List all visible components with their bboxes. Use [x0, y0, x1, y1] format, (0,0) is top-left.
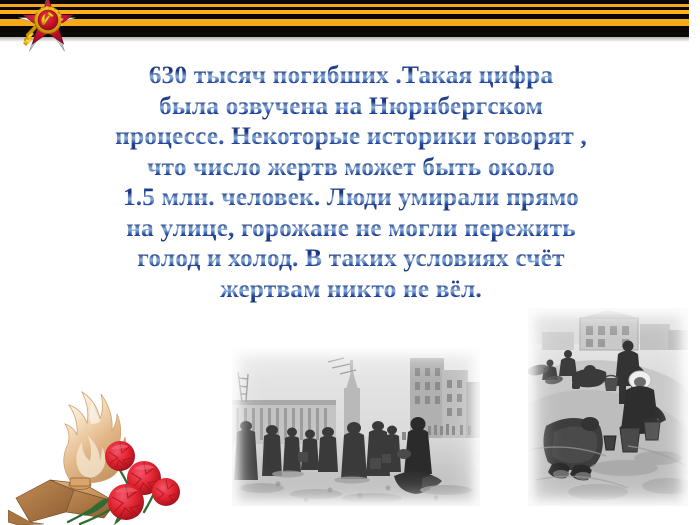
- text-line: голод и холод. В таких условиях счёт: [62, 243, 640, 274]
- carnation-flowers: [105, 441, 180, 520]
- text-line: 630 тысяч погибших .Такая цифра: [62, 60, 640, 91]
- slide-text-block: 630 тысяч погибших .Такая цифра была озв…: [62, 60, 640, 304]
- photo-leningrad-street-queue: [232, 348, 480, 506]
- ribbon-shadow: [0, 37, 689, 42]
- text-line: жертвам никто не вёл.: [62, 274, 640, 305]
- text-line: что число жертв может быть около: [62, 152, 640, 183]
- st-george-ribbon: [0, 0, 689, 37]
- slide-canvas: О Т Е Ч В О Й Н 630 тысяч погибших .Така…: [0, 0, 700, 525]
- photo-collecting-water-from-ice-hole: [528, 308, 688, 506]
- eternal-flame-with-carnations: [8, 372, 198, 525]
- order-of-patriotic-war-medal: О Т Е Ч В О Й Н: [14, 0, 80, 56]
- text-line: 1.5 млн. человек. Люди умирали прямо: [62, 182, 640, 213]
- text-line: на улице, горожане не могли пережить: [62, 213, 640, 244]
- memorial-star: [8, 478, 116, 525]
- text-line: процессе. Некоторые историки говорят ,: [62, 121, 640, 152]
- text-line: была озвучена на Нюрнбергском: [62, 91, 640, 122]
